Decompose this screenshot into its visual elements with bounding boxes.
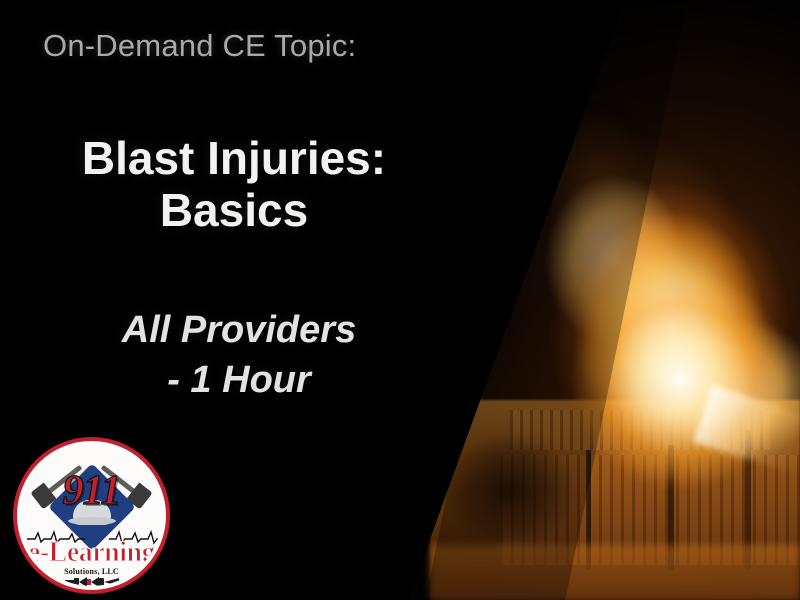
logo-badge[interactable]: 911 e-Learning Solutions, LLC www.911ele… — [13, 437, 170, 594]
title-line-2: Basics — [160, 184, 308, 236]
nozzle-icon — [65, 576, 119, 586]
audience-duration: All Providers - 1 Hour — [0, 305, 478, 405]
page-title: Blast Injuries: Basics — [0, 132, 468, 237]
logo-face: 911 e-Learning Solutions, LLC www.911ele… — [21, 445, 162, 586]
logo-legal-name: Solutions, LLC — [21, 567, 162, 576]
subtitle-line-2: - 1 Hour — [0, 355, 478, 405]
logo-wordmark: e-Learning — [21, 539, 162, 567]
course-promo-card: On-Demand CE Topic: Blast Injuries: Basi… — [0, 0, 800, 600]
ground-glow — [430, 545, 800, 600]
subtitle-line-1: All Providers — [122, 309, 356, 351]
title-line-1: Blast Injuries: — [82, 132, 386, 184]
logo-number: 911 — [21, 470, 162, 512]
eyebrow-label: On-Demand CE Topic: — [43, 28, 356, 64]
